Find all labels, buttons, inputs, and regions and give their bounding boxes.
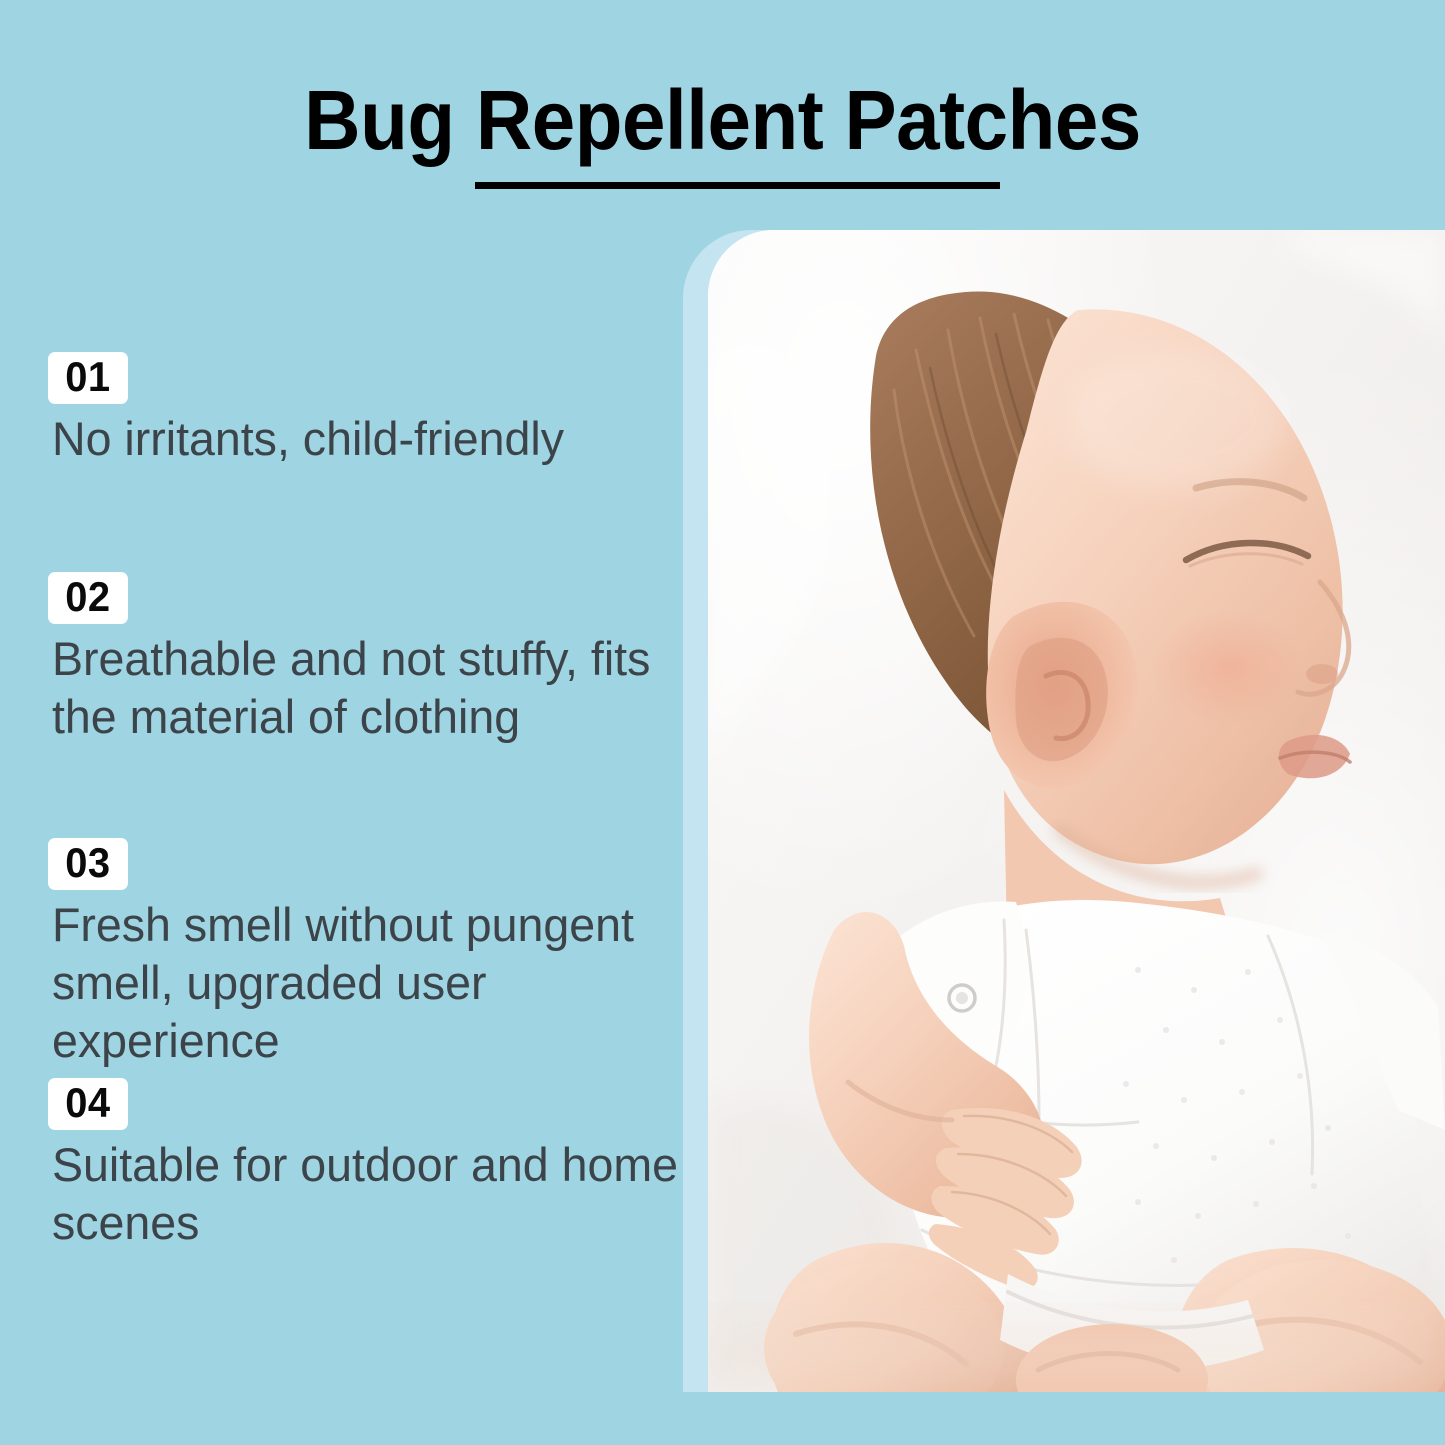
baby-photo (708, 230, 1445, 1392)
feature-item-02: 02 Breathable and not stuffy, fits the m… (48, 572, 698, 746)
feature-number-badge-02: 02 (48, 572, 128, 624)
page-title: Bug Repellent Patches (51, 72, 1395, 168)
baby-photo-illustration (708, 230, 1445, 1392)
feature-description-01: No irritants, child-friendly (52, 410, 686, 468)
title-underline-rule (475, 182, 1000, 189)
feature-number-badge-03: 03 (48, 838, 128, 890)
product-infographic-poster: Bug Repellent Patches (0, 0, 1445, 1445)
feature-number-04: 04 (65, 1080, 110, 1126)
feature-item-03: 03 Fresh smell without pungent smell, up… (48, 838, 698, 1070)
feature-description-02: Breathable and not stuffy, fits the mate… (52, 630, 686, 746)
feature-item-04: 04 Suitable for outdoor and home scenes (48, 1078, 698, 1252)
feature-list: 01 No irritants, child-friendly 02 Breat… (48, 352, 698, 1252)
feature-number-01: 01 (65, 354, 110, 400)
feature-description-03: Fresh smell without pungent smell, upgra… (52, 896, 686, 1070)
feature-number-badge-01: 01 (48, 352, 128, 404)
feature-number-03: 03 (65, 840, 110, 886)
feature-number-badge-04: 04 (48, 1078, 128, 1130)
feature-number-02: 02 (65, 574, 110, 620)
feature-description-04: Suitable for outdoor and home scenes (52, 1136, 686, 1252)
feature-item-01: 01 No irritants, child-friendly (48, 352, 698, 468)
title-block: Bug Repellent Patches (0, 72, 1445, 168)
